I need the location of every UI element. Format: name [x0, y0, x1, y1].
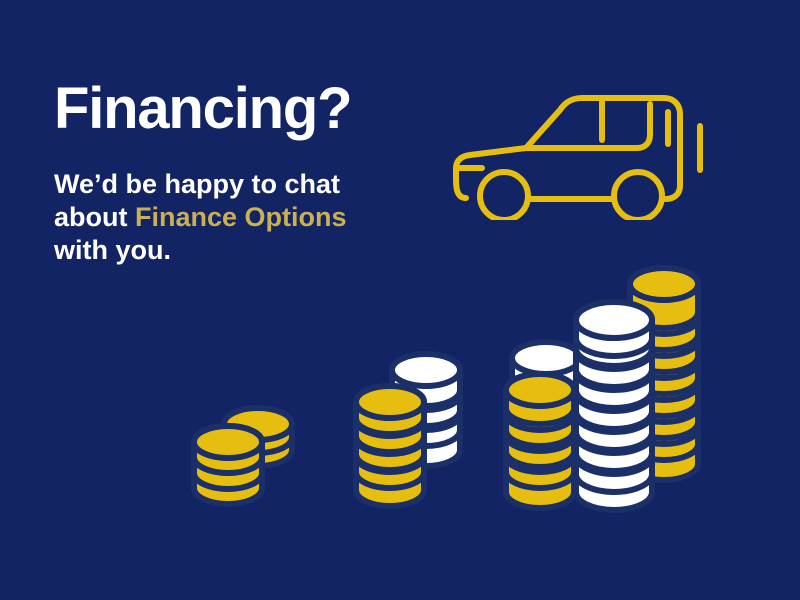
text-block: Financing? We’d be happy to chatabout Fi…: [54, 78, 454, 267]
car-suv-outline-icon: [452, 78, 718, 220]
coin-stack-small: [186, 380, 316, 520]
subcopy-line-1: We’d be happy to chat: [54, 169, 340, 199]
page-title: Financing?: [54, 78, 454, 140]
subcopy-line-2-prefix: about: [54, 202, 135, 232]
subcopy: We’d be happy to chatabout Finance Optio…: [54, 140, 364, 267]
coin-stack-medium: [348, 340, 482, 520]
financing-promo-banner: Financing? We’d be happy to chatabout Fi…: [0, 0, 800, 600]
coin-stack-large: [498, 262, 716, 520]
finance-options-highlight: Finance Options: [135, 202, 347, 232]
subcopy-line-3: with you.: [54, 235, 171, 265]
